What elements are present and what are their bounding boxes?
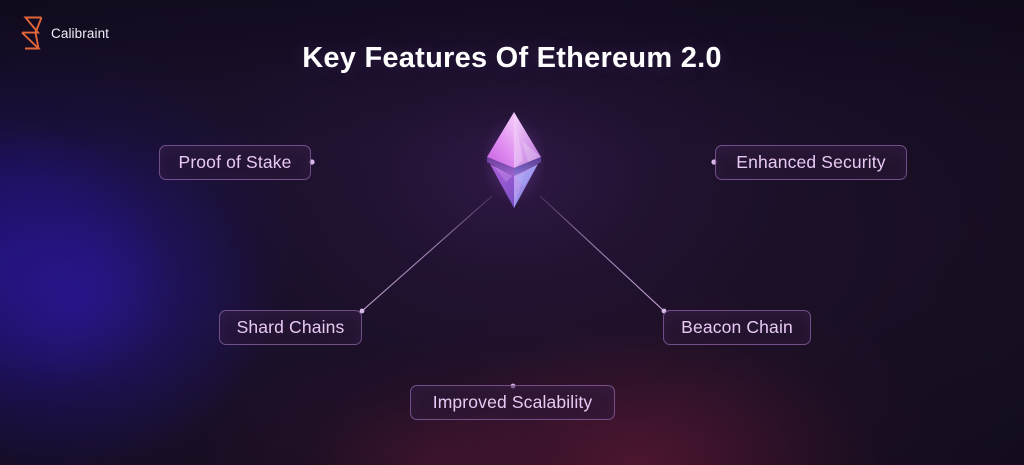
connector-shard-chains bbox=[362, 196, 492, 311]
feature-label: Shard Chains bbox=[237, 317, 345, 338]
feature-node-proof-of-stake[interactable]: Proof of Stake bbox=[159, 145, 311, 180]
feature-node-beacon-chain[interactable]: Beacon Chain bbox=[663, 310, 811, 345]
feature-label: Improved Scalability bbox=[433, 392, 593, 413]
feature-label: Enhanced Security bbox=[736, 152, 885, 173]
feature-node-improved-scalability[interactable]: Improved Scalability bbox=[410, 385, 615, 420]
ethereum-diamond-logo-icon bbox=[484, 110, 544, 210]
feature-node-shard-chains[interactable]: Shard Chains bbox=[219, 310, 362, 345]
feature-node-enhanced-security[interactable]: Enhanced Security bbox=[715, 145, 907, 180]
connector-beacon-chain bbox=[540, 196, 664, 311]
infographic-canvas: Calibraint Key Features Of Ethereum 2.0 bbox=[0, 0, 1024, 465]
feature-label: Proof of Stake bbox=[179, 152, 292, 173]
feature-label: Beacon Chain bbox=[681, 317, 793, 338]
